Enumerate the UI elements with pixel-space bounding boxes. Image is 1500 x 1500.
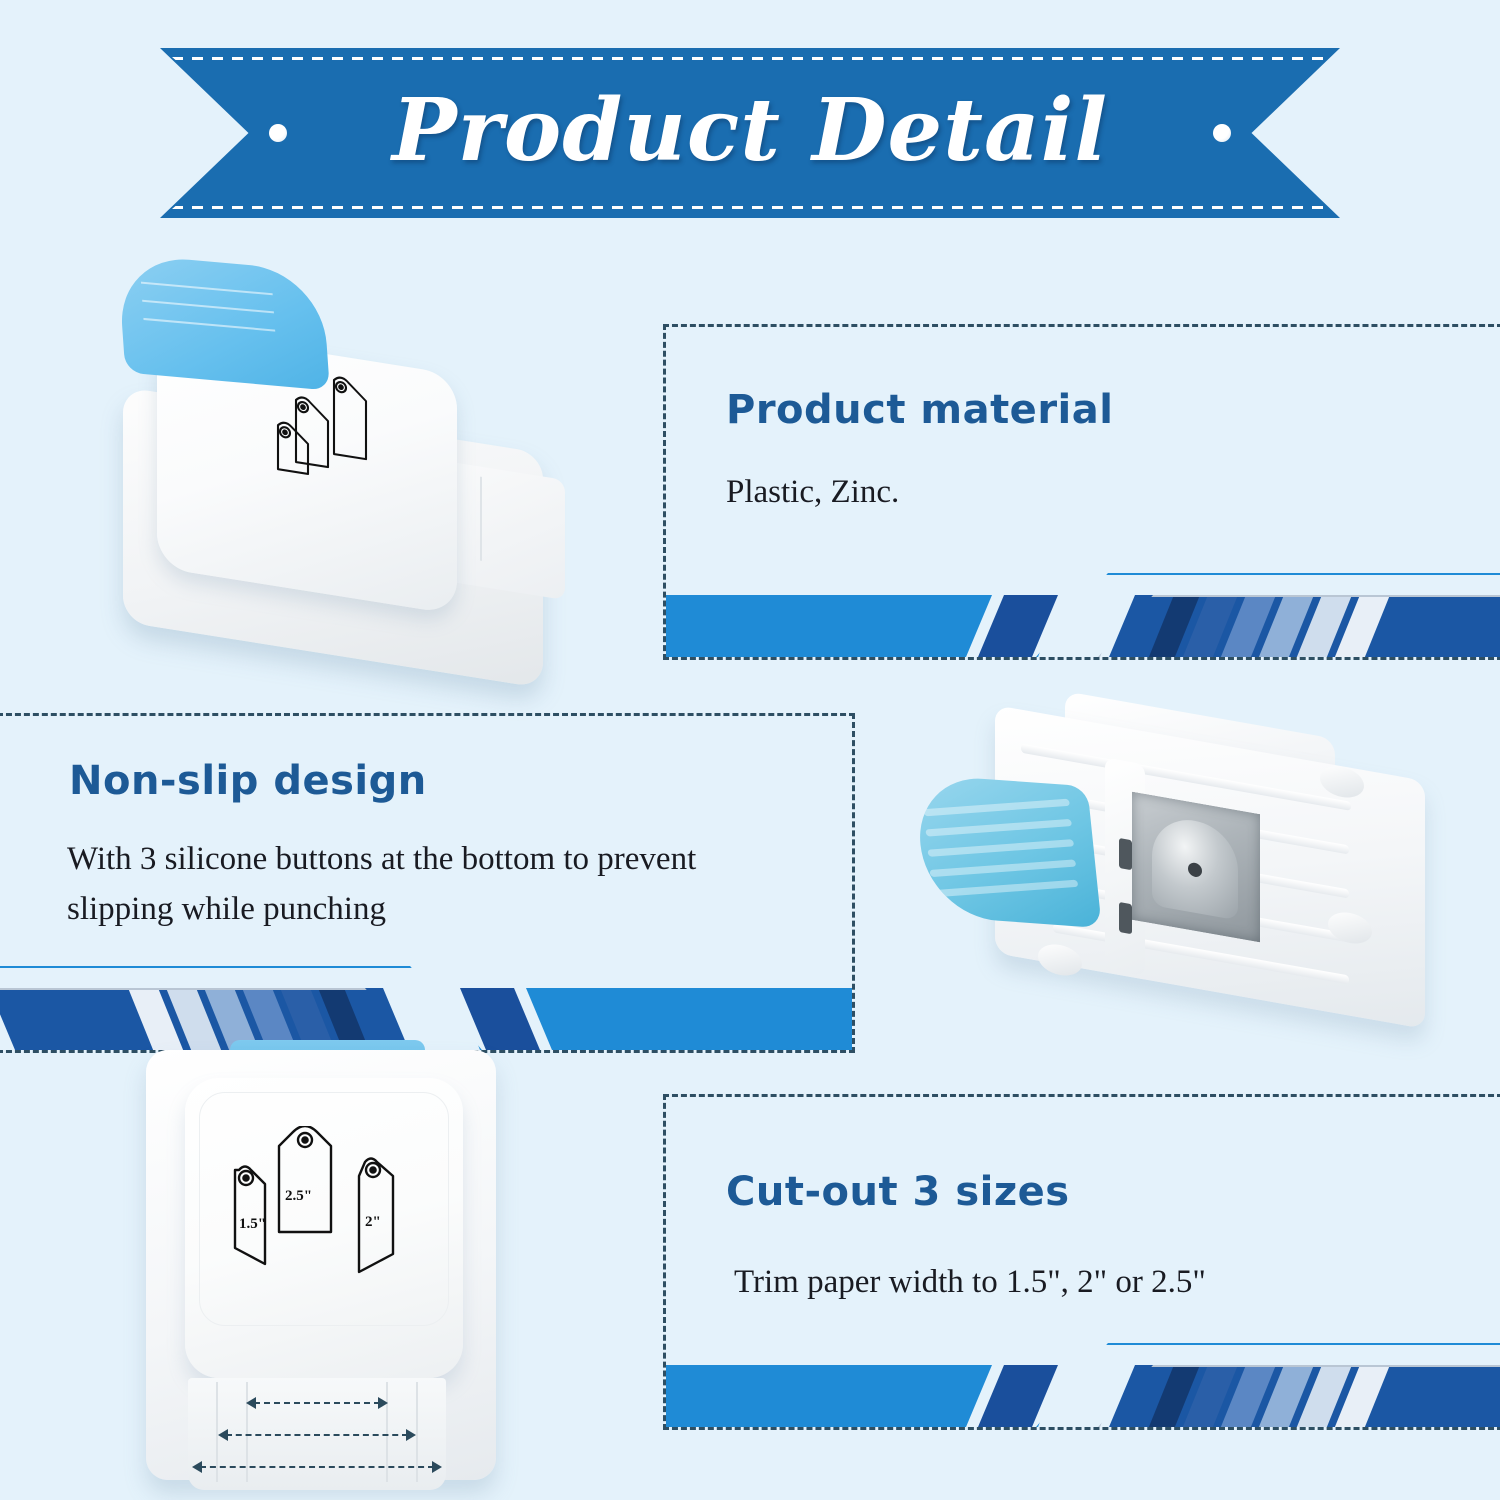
product-photo-underside-view [900,715,1470,1055]
page-banner: Product Detail [160,48,1340,218]
decorative-stripe-bar [666,565,1500,657]
decorative-stripe-bar-mirrored [0,958,852,1050]
product-photo-front-view: 1.5" 2.5" 2" [100,1040,580,1500]
tag-label-medium: 2" [365,1214,381,1230]
deco-outline-chevron-secondary [1098,1365,1500,1427]
card-body-cut-out-3-sizes: Trim paper width to 1.5", 2" or 2.5" [734,1257,1206,1307]
card-heading-product-material: Product material [726,387,1113,433]
card-non-slip-design: Non-slip design With 3 silicone buttons … [0,713,855,1053]
metal-die-icon [1152,813,1238,920]
width-arrow-2-5in [192,1466,442,1468]
page-title: Product Detail [160,48,1340,218]
card-product-material: Product material Plastic, Zinc. [663,324,1500,660]
tag-label-small: 1.5" [239,1216,266,1232]
product-photo-angled-view [95,245,615,690]
punch-ribbed-grip [913,774,1102,928]
tag-size-diagram-icon: 1.5" 2.5" 2" [215,1126,430,1276]
width-arrow-1-5in [246,1402,388,1404]
deco-bright-block [663,595,992,657]
card-cut-out-3-sizes: Cut-out 3 sizes Trim paper width to 1.5"… [663,1094,1500,1430]
decorative-stripe-bar [666,1335,1500,1427]
card-body-product-material: Plastic, Zinc. [726,467,899,517]
card-body-non-slip-design: With 3 silicone buttons at the bottom to… [67,834,767,934]
card-heading-non-slip-design: Non-slip design [69,758,427,804]
card-heading-cut-out-3-sizes: Cut-out 3 sizes [726,1169,1070,1215]
tag-label-large: 2.5" [285,1188,312,1204]
deco-bright-block [663,1365,992,1427]
punch-metal-die-window [1132,792,1260,943]
punch-guide-tray [188,1378,446,1490]
tag-shape-diagram-icon [270,362,410,504]
width-arrow-2in [218,1434,416,1436]
deco-outline-chevron-secondary [1098,595,1500,657]
